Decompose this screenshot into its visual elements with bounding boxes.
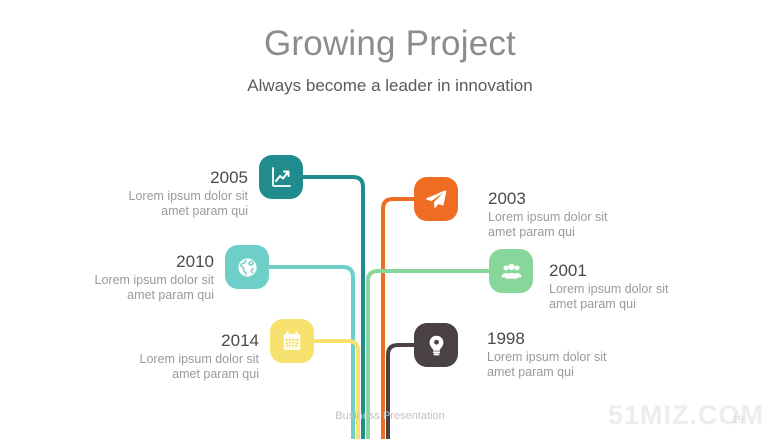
node-desc-line1: Lorem ipsum dolor sit	[487, 350, 697, 365]
node-text-2005: 2005 Lorem ipsum dolor sit amet param qu…	[38, 167, 248, 219]
node-text-2010: 2010 Lorem ipsum dolor sit amet param qu…	[4, 251, 214, 303]
node-desc-line2: amet param qui	[49, 367, 259, 382]
node-desc-line2: amet param qui	[488, 225, 698, 240]
lightbulb-icon	[425, 334, 448, 357]
node-icon-2001[interactable]	[489, 249, 533, 293]
node-text-1998: 1998 Lorem ipsum dolor sit amet param qu…	[487, 328, 697, 380]
node-desc-line1: Lorem ipsum dolor sit	[49, 352, 259, 367]
node-desc-line1: Lorem ipsum dolor sit	[488, 210, 698, 225]
node-desc-line2: amet param qui	[38, 204, 248, 219]
paper-plane-icon	[424, 187, 448, 211]
line-chart-icon	[269, 165, 293, 189]
node-icon-2010[interactable]	[225, 245, 269, 289]
page-number: 19	[732, 414, 744, 426]
globe-icon	[236, 256, 259, 279]
node-icon-1998[interactable]	[414, 323, 458, 367]
node-icon-2003[interactable]	[414, 177, 458, 221]
node-desc-line2: amet param qui	[4, 288, 214, 303]
connector-1998	[388, 345, 414, 439]
node-year: 2001	[549, 260, 759, 281]
node-text-2001: 2001 Lorem ipsum dolor sit amet param qu…	[549, 260, 759, 312]
node-icon-2005[interactable]	[259, 155, 303, 199]
node-desc-line1: Lorem ipsum dolor sit	[4, 273, 214, 288]
node-icon-2014[interactable]	[270, 319, 314, 363]
node-desc-line1: Lorem ipsum dolor sit	[38, 189, 248, 204]
node-year: 1998	[487, 328, 697, 349]
slide-canvas: Growing Project Always become a leader i…	[0, 0, 780, 439]
node-year: 2010	[4, 251, 214, 272]
node-year: 2014	[49, 330, 259, 351]
node-text-2014: 2014 Lorem ipsum dolor sit amet param qu…	[49, 330, 259, 382]
node-year: 2005	[38, 167, 248, 188]
node-desc-line2: amet param qui	[549, 297, 759, 312]
calendar-icon	[281, 330, 303, 352]
node-text-2003: 2003 Lorem ipsum dolor sit amet param qu…	[488, 188, 698, 240]
node-year: 2003	[488, 188, 698, 209]
node-desc-line1: Lorem ipsum dolor sit	[549, 282, 759, 297]
users-icon	[500, 260, 523, 283]
node-desc-line2: amet param qui	[487, 365, 697, 380]
